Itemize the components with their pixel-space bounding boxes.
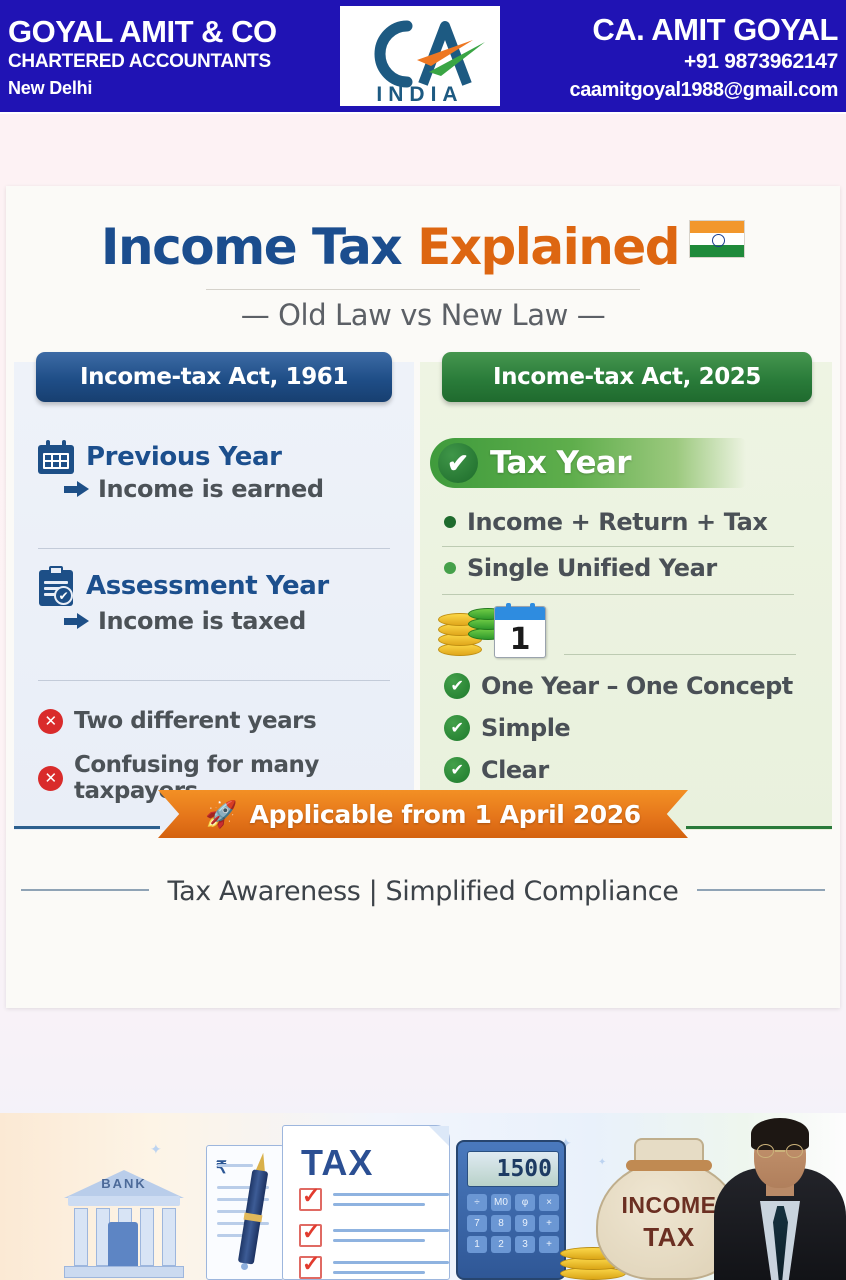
previous-year-block: Previous Year Income is earned — [38, 440, 398, 503]
tax-form-document: TAX ✓ ✓ ✓ — [282, 1125, 450, 1280]
sparkle-icon: ✦ — [150, 1141, 162, 1158]
ca-india-logo-icon: INDIA — [345, 6, 495, 106]
bullet-dot-icon — [444, 516, 456, 528]
ca-name: CA. AMIT GOYAL — [592, 14, 838, 47]
svg-text:INDIA: INDIA — [376, 83, 463, 106]
cross-icon: ✕ — [38, 709, 63, 734]
calculator-key: 9 — [515, 1215, 535, 1232]
base-rule-left — [14, 826, 160, 829]
rupee-symbol-icon: ₹ — [216, 1158, 227, 1178]
previous-year-sub-label: Income is earned — [98, 475, 324, 503]
calculator-keys: ÷ M0 φ × 7 8 9 + 1 2 3 + — [467, 1194, 559, 1253]
infographic-subtitle: — Old Law vs New Law — — [6, 298, 840, 332]
arrow-right-icon — [64, 613, 90, 629]
calculator-key: ÷ — [467, 1194, 487, 1211]
check-circle-icon: ✔ — [444, 757, 470, 783]
new-law-bullet-label: Income + Return + Tax — [467, 508, 767, 536]
applicability-ribbon: 🚀 Applicable from 1 April 2026 — [158, 790, 688, 838]
glasses-icon — [756, 1144, 804, 1158]
calculator-key: + — [539, 1215, 559, 1232]
firm-city: New Delhi — [8, 75, 340, 102]
check-circle-icon: ✔ — [438, 443, 478, 483]
positive-point: ✔ Simple — [444, 714, 570, 742]
firm-type: CHARTERED ACCOUNTANTS — [8, 48, 340, 76]
left-panel-divider-1 — [38, 548, 390, 549]
previous-year-label: Previous Year — [86, 442, 282, 472]
calculator-key: M0 — [491, 1194, 511, 1211]
tax-form-title: TAX — [301, 1142, 373, 1184]
india-flag-icon — [689, 220, 745, 258]
infographic-footer: Tax Awareness | Simplified Compliance — [6, 876, 840, 907]
assessment-year-subtext: Income is taxed — [38, 607, 398, 635]
footer-dash-right — [697, 889, 825, 891]
new-law-badge: Income-tax Act, 2025 — [442, 352, 812, 402]
old-law-badge: Income-tax Act, 1961 — [36, 352, 392, 402]
calculator-display: 1500 — [467, 1151, 559, 1187]
bullet-dot-icon — [444, 562, 456, 574]
negative-point-label: Two different years — [74, 708, 316, 734]
new-law-bullet: Income + Return + Tax — [444, 508, 767, 536]
calculator-key: 3 — [515, 1236, 535, 1253]
calculator-key: 8 — [491, 1215, 511, 1232]
positive-point: ✔ One Year – One Concept — [444, 672, 793, 700]
assessment-year-sub-label: Income is taxed — [98, 607, 306, 635]
new-law-bullet-label: Single Unified Year — [467, 554, 717, 582]
check-mark-icon: ✓ — [302, 1221, 320, 1243]
calendar-day-one-icon: 1 — [494, 606, 546, 658]
infographic-title: Income Tax Explained — [6, 218, 840, 276]
assessment-year-block: ✔ Assessment Year Income is taxed — [38, 566, 398, 635]
calculator-key: × — [539, 1194, 559, 1211]
ca-email[interactable]: caamitgoyal1988@gmail.com — [569, 76, 838, 104]
new-law-bullet: Single Unified Year — [444, 554, 717, 582]
header-right-block: CA. AMIT GOYAL +91 9873962147 caamitgoya… — [500, 0, 846, 112]
base-rule-right — [686, 826, 832, 829]
footer-label: Tax Awareness | Simplified Compliance — [168, 876, 679, 907]
calendar-day-number: 1 — [495, 619, 545, 659]
bank-label: BANK — [64, 1176, 184, 1191]
calculator-key: + — [539, 1236, 559, 1253]
assessment-year-label: Assessment Year — [86, 571, 329, 601]
arrow-right-icon — [64, 481, 90, 497]
positive-point-label: Simple — [481, 714, 570, 742]
calculator-icon: 1500 ÷ M0 φ × 7 8 9 + 1 2 3 + — [456, 1140, 566, 1280]
old-law-panel: Income-tax Act, 1961 Previous Year Incom… — [14, 362, 414, 830]
previous-year-heading: Previous Year — [38, 440, 398, 474]
firm-name: GOYAL AMIT & CO — [8, 16, 340, 48]
new-law-panel: Income-tax Act, 2025 ✔ Tax Year Income +… — [420, 362, 832, 830]
header-left-block: GOYAL AMIT & CO CHARTERED ACCOUNTANTS Ne… — [0, 0, 340, 112]
calculator-key: 7 — [467, 1215, 487, 1232]
check-circle-icon: ✔ — [444, 673, 470, 699]
tax-year-highlight: ✔ Tax Year — [430, 438, 746, 488]
footer-dash-left — [21, 889, 149, 891]
negative-point: ✕ Two different years — [38, 708, 316, 734]
left-panel-divider-2 — [38, 680, 390, 681]
calculator-key: φ — [515, 1194, 535, 1211]
calendar-icon — [38, 440, 74, 474]
cross-icon: ✕ — [38, 766, 63, 791]
calculator-key: 1 — [467, 1236, 487, 1253]
bank-building-icon: BANK — [64, 1160, 184, 1280]
avatar-photo — [714, 1113, 846, 1280]
bottom-illustration-band: ✦ ✦ ✦ ✦ ✦ BANK ₹ TAX ✓ ✓ — [0, 1113, 846, 1280]
check-mark-icon: ✓ — [302, 1185, 320, 1207]
rocket-icon: 🚀 — [205, 801, 237, 827]
check-mark-icon: ✓ — [302, 1253, 320, 1275]
title-divider — [206, 289, 640, 290]
check-circle-icon: ✔ — [444, 715, 470, 741]
right-panel-divider-3 — [564, 654, 796, 655]
positive-point-label: Clear — [481, 756, 549, 784]
clipboard-check-icon: ✔ — [38, 566, 74, 606]
positive-point-label: One Year – One Concept — [481, 672, 793, 700]
title-part-income-tax: Income Tax — [101, 218, 417, 276]
right-panel-divider-1 — [442, 546, 794, 547]
coins-calendar-icon: 1 — [438, 592, 552, 658]
positive-point: ✔ Clear — [444, 756, 549, 784]
applicability-label: Applicable from 1 April 2026 — [250, 800, 641, 829]
infographic-card: Income Tax Explained — Old Law vs New La… — [6, 186, 840, 1008]
previous-year-subtext: Income is earned — [38, 475, 398, 503]
assessment-year-heading: ✔ Assessment Year — [38, 566, 398, 606]
calculator-key: 2 — [491, 1236, 511, 1253]
ca-india-logo: INDIA — [340, 6, 500, 106]
tax-year-label: Tax Year — [490, 445, 631, 481]
title-part-explained: Explained — [417, 218, 679, 276]
ca-phone[interactable]: +91 9873962147 — [684, 47, 838, 76]
brand-header: GOYAL AMIT & CO CHARTERED ACCOUNTANTS Ne… — [0, 0, 846, 114]
